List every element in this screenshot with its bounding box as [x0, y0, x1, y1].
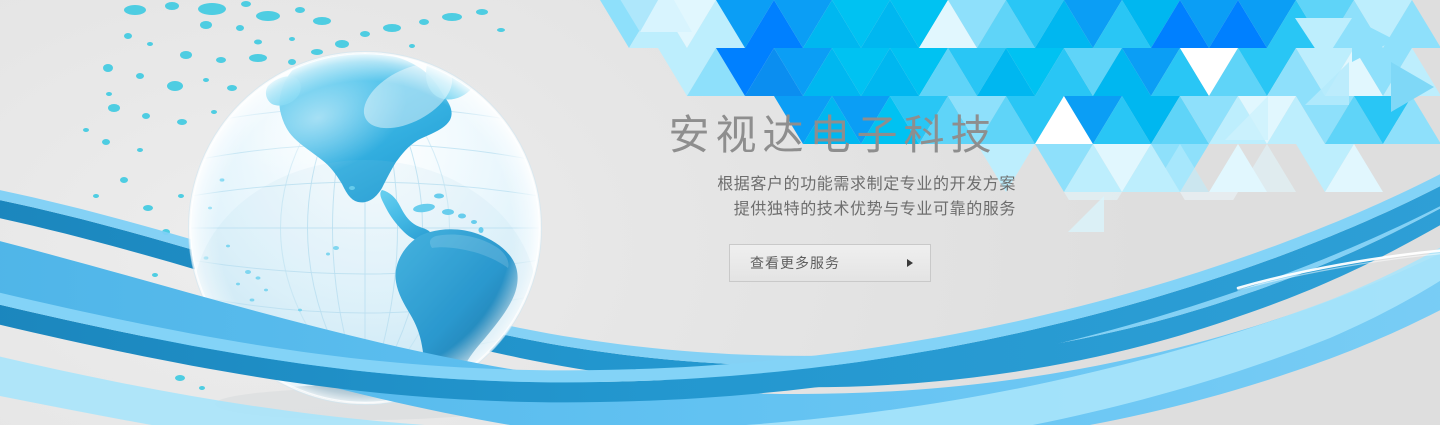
- cta-label: 查看更多服务: [750, 253, 840, 273]
- view-more-services-button[interactable]: 查看更多服务: [729, 244, 931, 282]
- subtitle-line-2: 提供独特的技术优势与专业可靠的服务: [640, 197, 1016, 222]
- page-title: 安视达电子科技: [640, 108, 1020, 162]
- hero-copy-block: 安视达电子科技 根据客户的功能需求制定专业的开发方案 提供独特的技术优势与专业可…: [640, 108, 1020, 282]
- triangle-right-icon: [907, 259, 913, 267]
- subtitle-line-1: 根据客户的功能需求制定专业的开发方案: [640, 172, 1016, 197]
- subtitle-block: 根据客户的功能需求制定专业的开发方案 提供独特的技术优势与专业可靠的服务: [640, 172, 1020, 222]
- hero-banner: 安视达电子科技 根据客户的功能需求制定专业的开发方案 提供独特的技术优势与专业可…: [0, 0, 1440, 425]
- cta-container: 查看更多服务: [640, 244, 1020, 282]
